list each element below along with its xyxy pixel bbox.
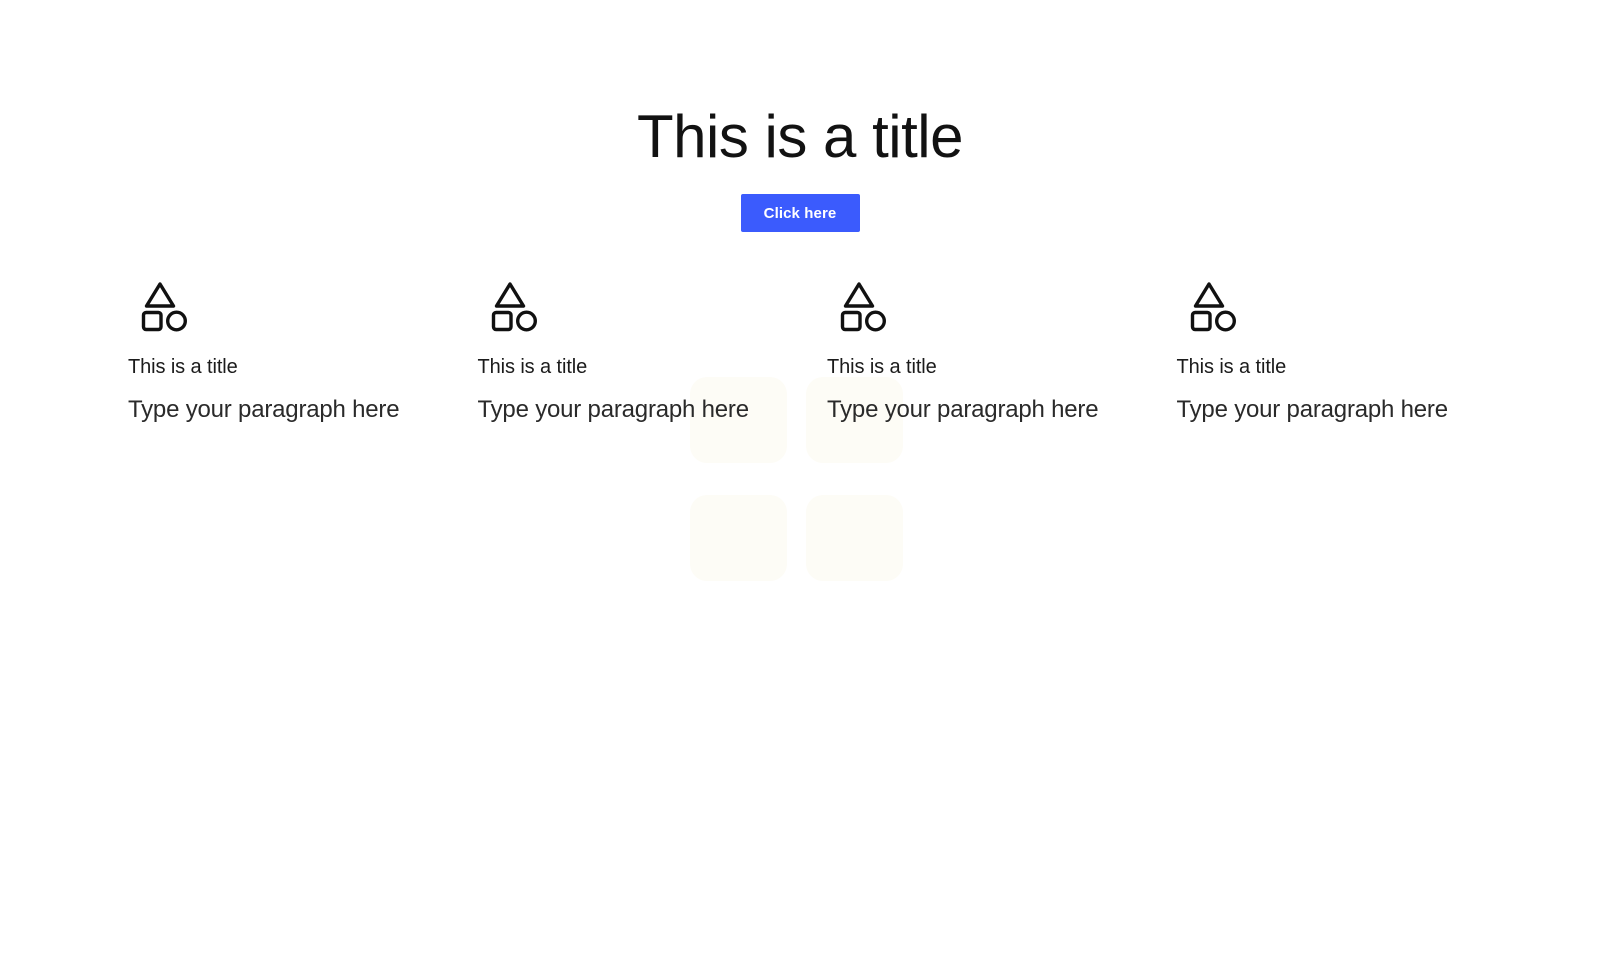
feature-item-2: This is a title Type your paragraph here: [478, 281, 775, 425]
shapes-triangle-square-circle-icon: [839, 281, 895, 333]
feature-title: This is a title: [1177, 355, 1287, 380]
feature-paragraph: Type your paragraph here: [1177, 394, 1448, 425]
click-here-button[interactable]: Click here: [741, 194, 860, 232]
tile-bottom-left: [690, 495, 787, 581]
hero-section: This is a title Click here: [0, 0, 1600, 232]
tile-bottom-right: [806, 495, 903, 581]
feature-paragraph: Type your paragraph here: [128, 394, 399, 425]
shapes-triangle-square-circle-icon: [1189, 281, 1245, 333]
page-root: This is a title Click here This is a tit…: [0, 0, 1600, 978]
feature-title: This is a title: [827, 355, 937, 380]
page-title: This is a title: [0, 0, 1600, 170]
feature-columns: This is a title Type your paragraph here…: [128, 281, 1473, 425]
feature-item-4: This is a title Type your paragraph here: [1177, 281, 1474, 425]
feature-item-3: This is a title Type your paragraph here: [827, 281, 1124, 425]
feature-paragraph: Type your paragraph here: [827, 394, 1098, 425]
shapes-triangle-square-circle-icon: [140, 281, 196, 333]
feature-title: This is a title: [478, 355, 588, 380]
feature-item-1: This is a title Type your paragraph here: [128, 281, 425, 425]
feature-paragraph: Type your paragraph here: [478, 394, 749, 425]
feature-title: This is a title: [128, 355, 238, 380]
hero-cta-container: Click here: [0, 194, 1600, 232]
shapes-triangle-square-circle-icon: [490, 281, 546, 333]
